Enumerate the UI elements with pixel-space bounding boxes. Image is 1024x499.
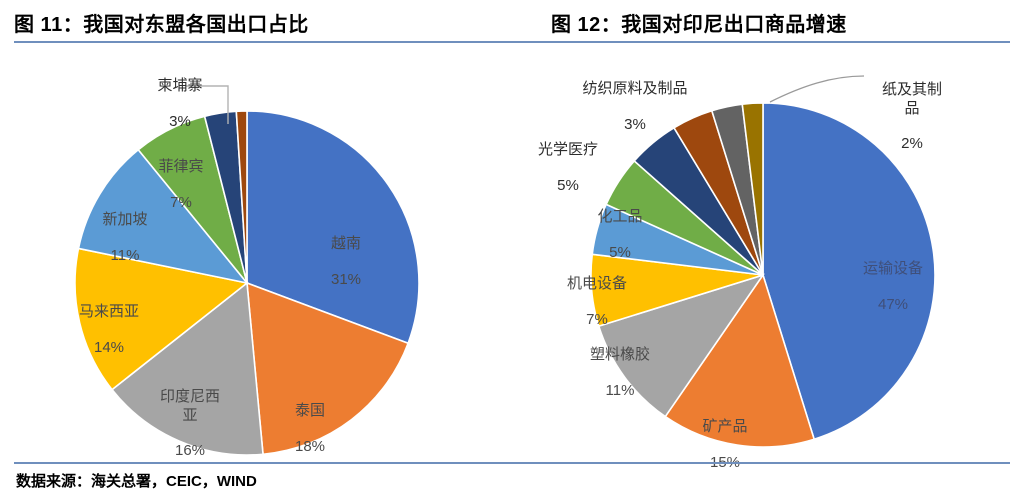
figure-12-title: 图 12：我国对印尼出口商品增速 — [551, 8, 847, 37]
indonesia-export-goods-pie — [512, 44, 1024, 460]
figure-11-panel: 越南 31% 泰国 18% 印度尼西 亚 16% 马来西亚 14% 新加坡 11… — [0, 44, 512, 460]
report-figure-page: 图 11：我国对东盟各国出口占比 图 12：我国对印尼出口商品增速 越南 31%… — [0, 0, 1024, 499]
title-divider-top — [14, 41, 1010, 43]
data-source-note: 数据来源：海关总署，CEIC，WIND — [16, 470, 257, 491]
asean-export-share-pie — [0, 44, 512, 460]
figure-11-title: 图 11：我国对东盟各国出口占比 — [14, 8, 309, 37]
callout-line-paper-products — [770, 76, 864, 102]
figure-titles: 图 11：我国对东盟各国出口占比 图 12：我国对印尼出口商品增速 — [0, 0, 1024, 40]
source-divider-bottom — [14, 462, 1010, 464]
figure-12-panel: 运输设备 47% 矿产品 15% 塑料橡胶 11% 机电设备 7% 化工品 5%… — [512, 44, 1024, 460]
